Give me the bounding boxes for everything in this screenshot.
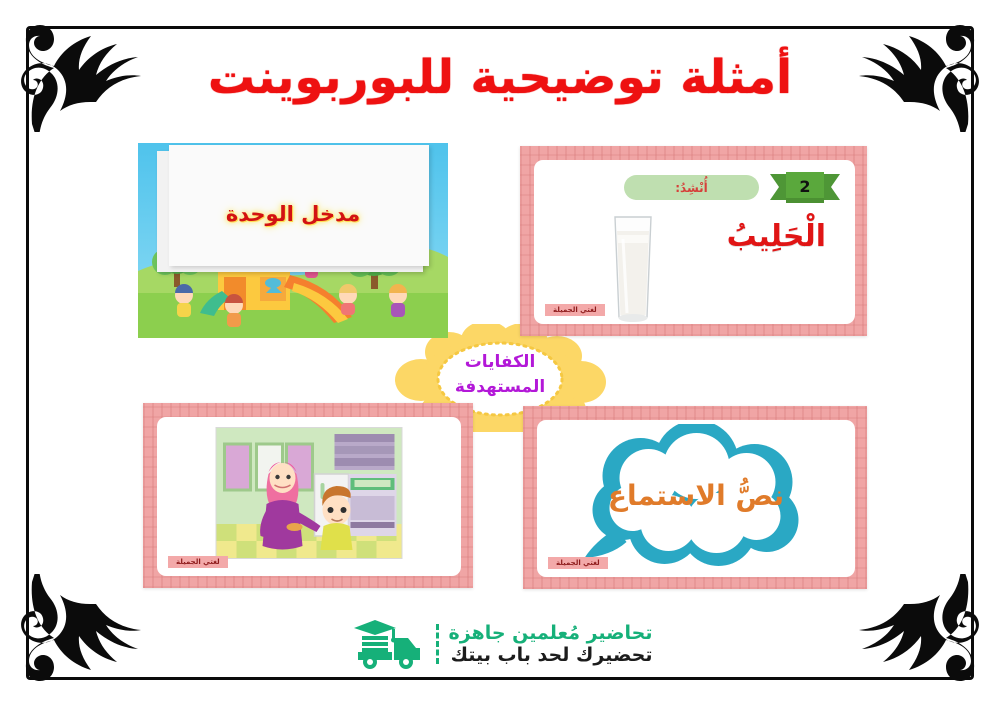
competencies-line-2: المستهدفة [389, 375, 611, 400]
listening-text-label: نصُّ الاستماع [569, 479, 824, 512]
slide-card-unit-intro[interactable]: مدخل الوحدة [138, 143, 448, 338]
lesson-number-text: 2 [768, 177, 842, 196]
kitchen-illustration [216, 427, 403, 559]
book-label: لغتي الجميلة [545, 304, 605, 316]
logo-divider [436, 624, 439, 664]
graduation-truck-icon [348, 618, 426, 670]
slide-card-listening-text[interactable]: نصُّ الاستماع لغتي الجميلة [523, 406, 867, 589]
slide-card-kitchen-scene[interactable]: لغتي الجميلة [143, 403, 473, 588]
instruction-pill-sing: أُنْشِدُ: [624, 175, 759, 200]
unit-intro-title: مدخل الوحدة [138, 202, 448, 226]
footer-logo: تحاضير مُعلمين جاهزة تحضيرك لحد باب بيتك [0, 618, 1000, 670]
poster-page: أمثلة توضيحية للبوربوينت الكفايات المسته… [0, 0, 1000, 706]
slide-card-sing-milk[interactable]: أُنْشِدُ: 2 الْحَلِي [520, 146, 867, 336]
lesson-number-ribbon: 2 [768, 170, 842, 206]
glass-of-milk-image [607, 213, 659, 323]
speech-cloud: نصُّ الاستماع [569, 424, 824, 574]
footer-line-2: تحضيرك لحد باب بيتك [449, 644, 653, 666]
vocabulary-word-milk: الْحَلِيبُ [727, 219, 826, 254]
book-label: لغتي الجميلة [548, 557, 608, 569]
book-label: لغتي الجميلة [168, 556, 228, 568]
footer-line-1: تحاضير مُعلمين جاهزة [449, 622, 653, 644]
playground-scene: مدخل الوحدة [138, 143, 448, 338]
competencies-line-1: الكفايات [389, 350, 611, 375]
targeted-competencies-text: الكفايات المستهدفة [389, 350, 611, 399]
page-title: أمثلة توضيحية للبوربوينت [0, 52, 1000, 104]
